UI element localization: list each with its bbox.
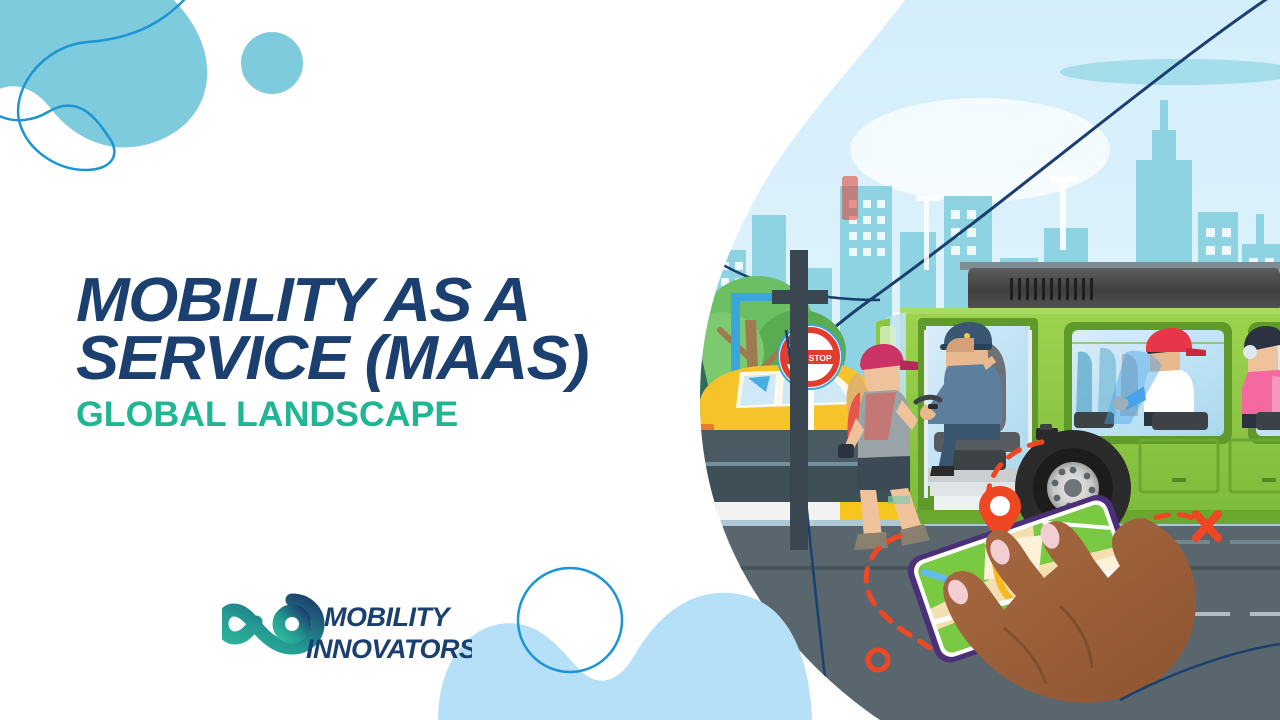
hand — [943, 518, 1196, 702]
city-skyline — [700, 100, 1280, 430]
map-pin-1 — [979, 486, 1021, 540]
hand-crease-1 — [1060, 606, 1092, 668]
map-water — [922, 549, 1017, 654]
shelter-post — [731, 293, 773, 475]
bus-handrail-right — [1028, 330, 1032, 498]
pine-tree-2 — [724, 372, 752, 424]
foreground-pole-arm — [772, 290, 828, 304]
bus-steps — [926, 468, 1030, 510]
taxi-wheel — [708, 442, 764, 498]
curb-yellow — [840, 502, 960, 520]
headline-line-2: SERVICE (MAAS) — [76, 330, 721, 388]
smartphone-map-in-hand — [903, 486, 1196, 703]
woman-hair — [1244, 326, 1280, 376]
bus-front-pillar — [876, 318, 890, 480]
page-title: MOBILITY AS A SERVICE (MAAS) — [76, 272, 721, 387]
bus-skirt — [900, 510, 1280, 524]
cloud-band — [1060, 59, 1280, 85]
map-park-3 — [936, 592, 1044, 655]
bus-driver — [920, 322, 1002, 476]
brand-logo[interactable]: MOBILITY INNOVATORS — [222, 586, 472, 670]
tree-trunk — [745, 320, 762, 470]
road-far — [600, 430, 1280, 466]
boy-shirt — [1144, 370, 1194, 424]
title-slide: TAXI BUS STOP — [0, 0, 1280, 720]
bus-window-1 — [1064, 322, 1232, 444]
cloud-group — [830, 98, 1280, 390]
jogger-arm-front — [896, 400, 918, 430]
bus-door-glass — [926, 326, 1030, 486]
jogger-cap — [860, 344, 904, 370]
jogger-leg-back — [860, 490, 882, 538]
bus-front-glass — [886, 312, 906, 470]
passenger-boy — [1114, 328, 1207, 426]
bus-stop-sign: BUS STOP — [778, 325, 842, 565]
jogger-ponytail — [846, 372, 870, 426]
jogger-backpack — [848, 392, 861, 440]
bus-window-2 — [1242, 322, 1280, 444]
jogger-head — [864, 352, 900, 394]
cable-vertical — [786, 330, 830, 720]
jogger-woman — [838, 344, 930, 550]
taxi-roof-sign — [798, 352, 828, 364]
bus-body — [900, 308, 1280, 520]
map-park-1 — [916, 542, 1001, 609]
phone-frame — [903, 491, 1144, 667]
driver-seat — [934, 340, 1020, 470]
city-bus — [876, 262, 1280, 546]
jogger-leg-front — [890, 488, 922, 536]
road-dashes — [1130, 612, 1280, 616]
boy-hair — [1147, 332, 1186, 354]
taxi-cab: TAXI — [698, 348, 884, 498]
overhead-cable-2 — [700, 250, 880, 300]
bus-roof-rack — [968, 268, 1280, 312]
logo-name-line-2: INNOVATORS — [306, 634, 472, 664]
jogger-arm-back — [844, 418, 864, 452]
street-infrastructure — [842, 176, 1078, 270]
skyline-windows — [707, 200, 1274, 334]
fingernails — [944, 521, 1063, 608]
bus-mirror — [1036, 428, 1058, 440]
thin-line-bottom — [1120, 644, 1280, 700]
pine-tree-3 — [794, 372, 822, 424]
route-x-marker — [1196, 514, 1218, 538]
map-road — [986, 529, 1054, 631]
dashed-route-path — [866, 442, 1196, 648]
route-start-marker — [868, 650, 888, 670]
taxi-checker — [748, 440, 783, 450]
driver-trousers — [944, 424, 1000, 440]
bus-roof-vents — [1010, 278, 1093, 300]
map-park-2 — [1024, 502, 1117, 573]
road-main — [600, 526, 1280, 720]
driver-cap — [944, 322, 992, 348]
driver-hand — [920, 404, 936, 420]
infinity-loop-icon — [222, 600, 318, 648]
bus-handrail-left — [924, 330, 928, 498]
driver-uniform — [944, 364, 1002, 424]
taxi-label: TAXI — [790, 437, 821, 453]
phone-map-screen — [916, 502, 1132, 655]
sidewalk-base — [600, 466, 1280, 510]
jogger-shoe-back — [854, 532, 888, 550]
bus-stop-label: BUS STOP — [788, 353, 832, 363]
bus-door-frame — [918, 318, 1038, 514]
bus-luggage-hatches — [1140, 440, 1280, 492]
headphone-cup — [1243, 345, 1257, 359]
overhead-cable — [740, 0, 1280, 440]
logo-name-line-1: MOBILITY — [324, 602, 452, 632]
map-pin-2 — [1028, 580, 1078, 645]
foreground-pole — [790, 250, 808, 550]
jogger-shorts — [856, 456, 910, 492]
curb-white — [600, 502, 1280, 520]
road-dashes-2 — [1150, 540, 1280, 544]
page-subtitle: GLOBAL LANDSCAPE — [76, 397, 708, 432]
woman-top — [1242, 370, 1280, 424]
jogger-top — [858, 390, 910, 462]
steering-wheel — [916, 397, 940, 402]
title-text-block: MOBILITY AS A SERVICE (MAAS) GLOBAL LAND… — [76, 272, 696, 432]
hand-crease-2 — [1004, 628, 1046, 684]
boy-cap — [1146, 328, 1192, 352]
bus-roof-edge — [960, 262, 1280, 270]
passenger-woman — [1242, 326, 1280, 428]
bus-wheel — [1015, 430, 1131, 546]
tree-branches — [720, 330, 786, 400]
driver-shoe — [930, 466, 954, 476]
jogger-shoe-front — [900, 524, 930, 546]
